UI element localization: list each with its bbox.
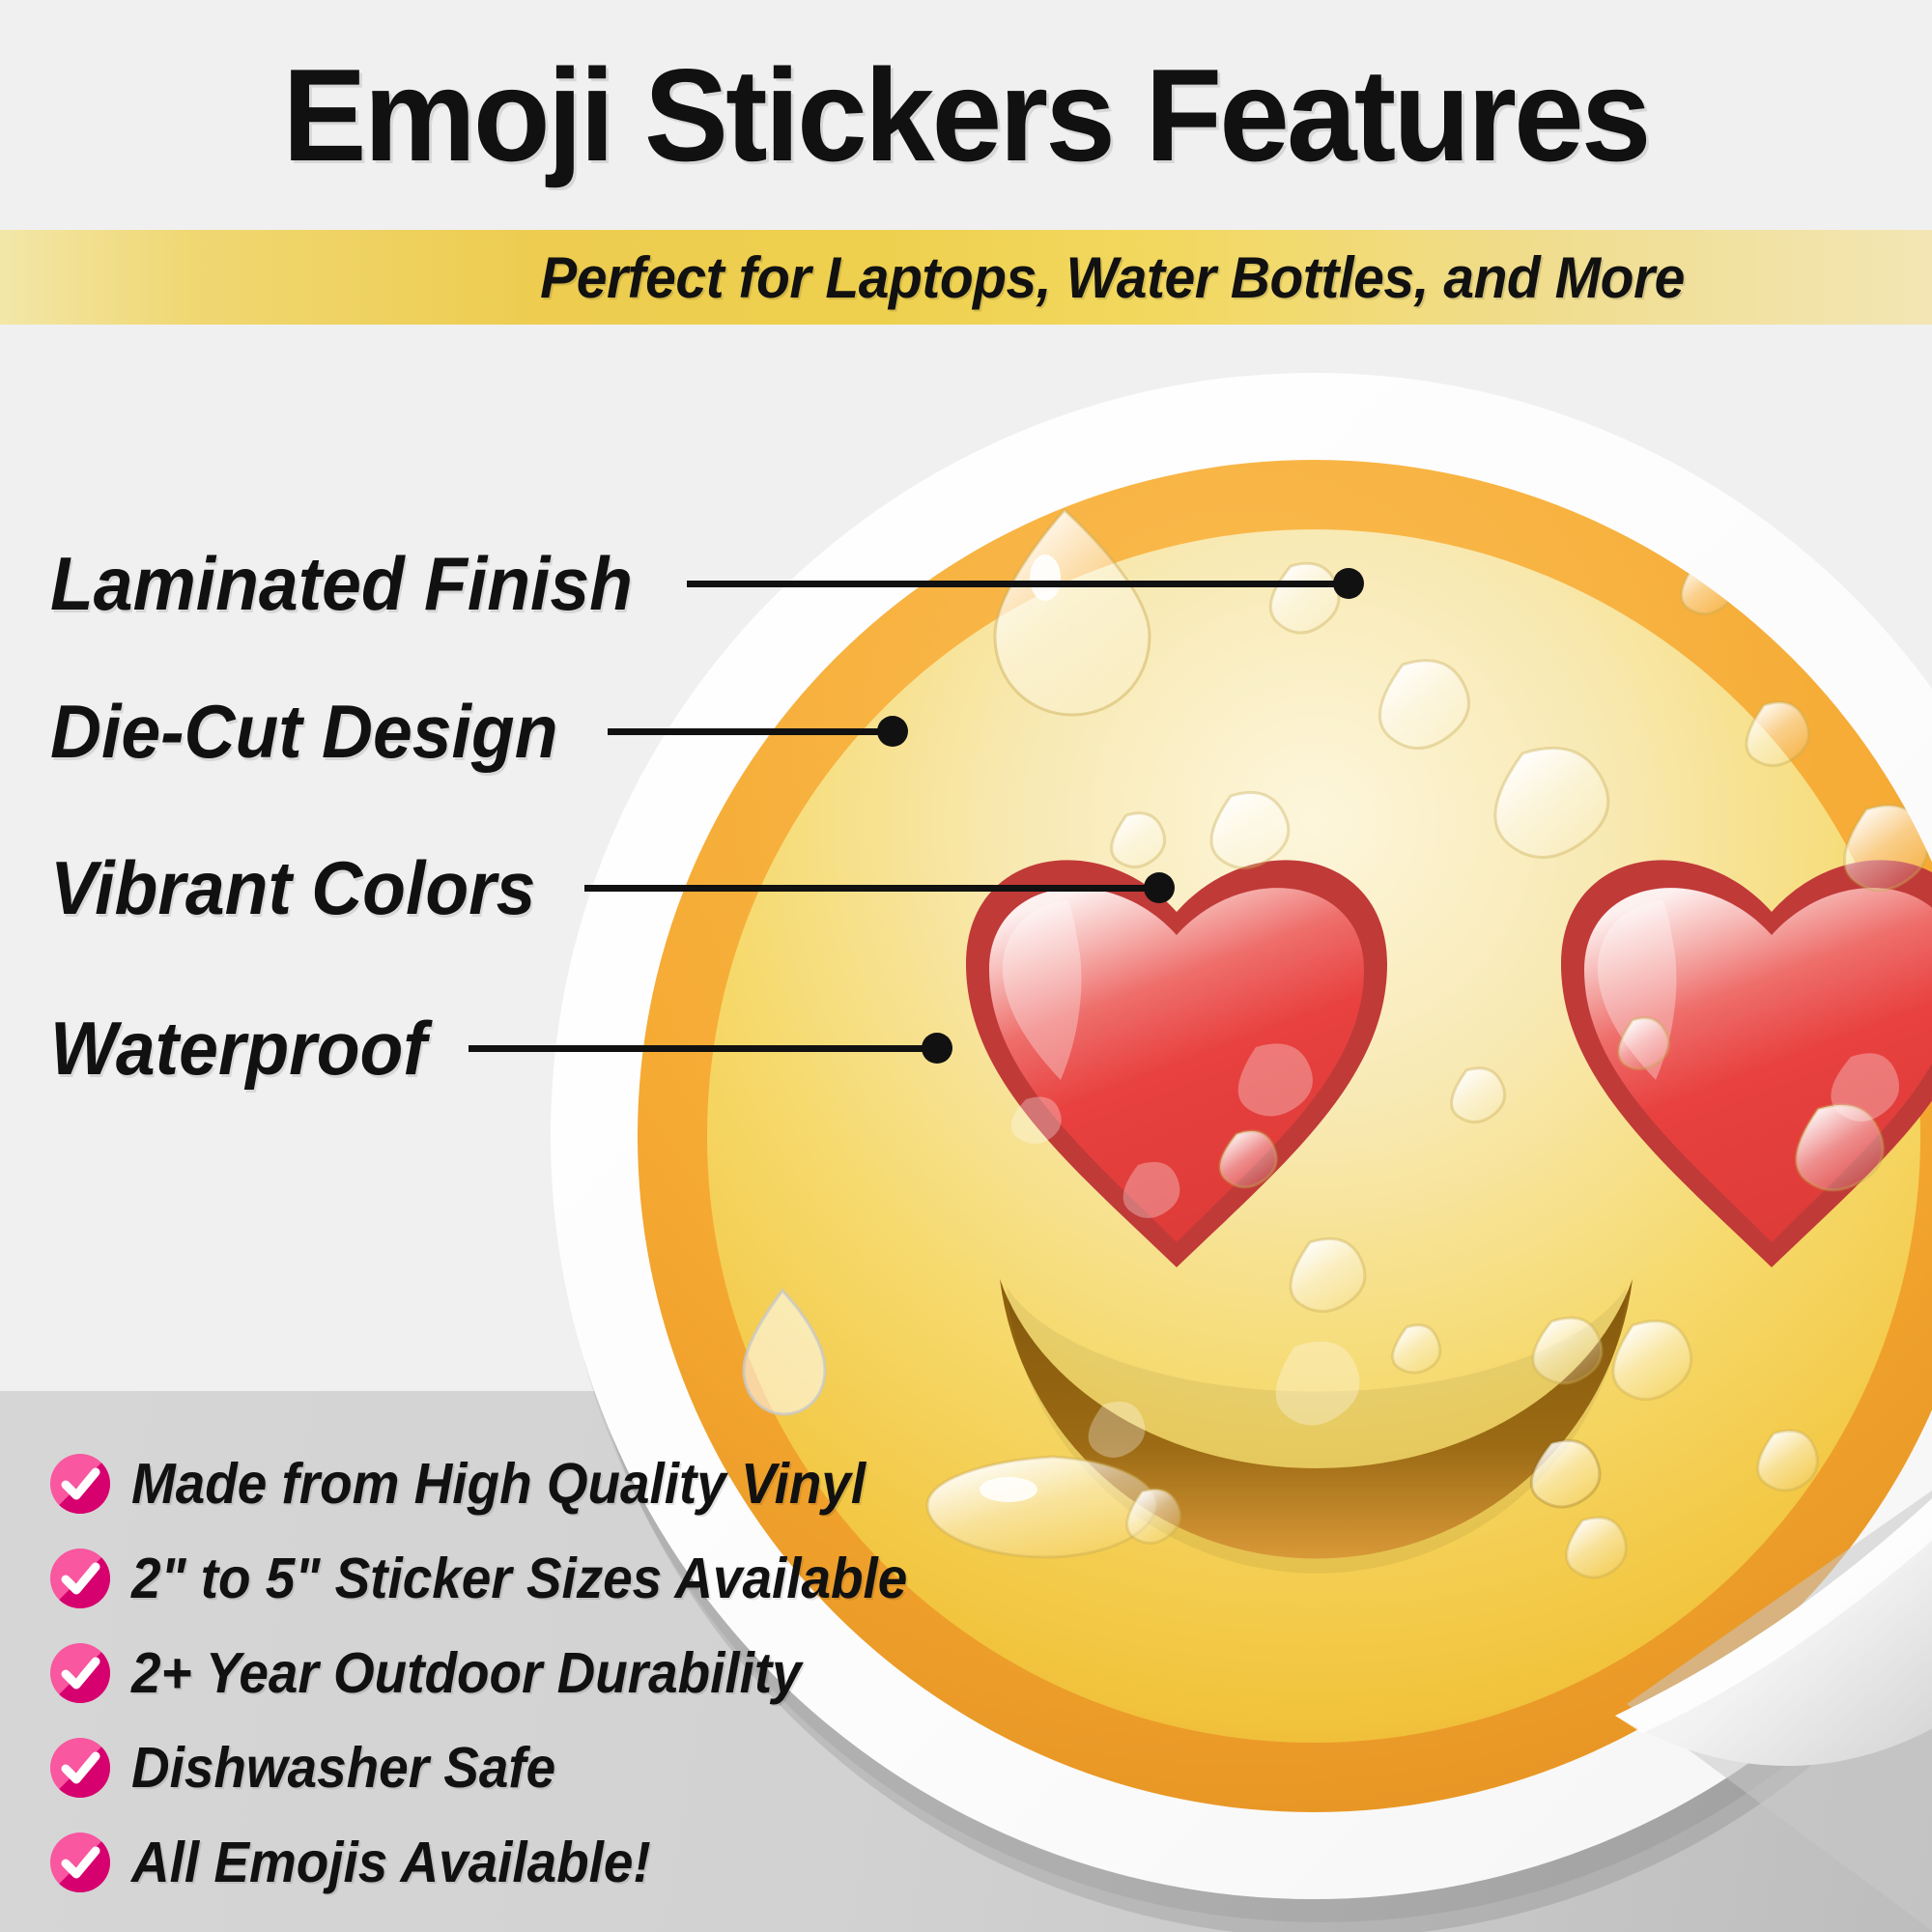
list-item-label: Made from High Quality Vinyl (131, 1456, 866, 1513)
leader-line (469, 1045, 942, 1052)
check-circle-icon (50, 1548, 110, 1608)
leader-line (687, 581, 1353, 587)
callout-label: Waterproof (50, 1010, 427, 1086)
list-item-label: 2+ Year Outdoor Durability (131, 1645, 802, 1702)
check-circle-icon (50, 1833, 110, 1892)
callout-label: Vibrant Colors (50, 850, 535, 925)
callout-waterproof[interactable]: Waterproof (50, 1010, 942, 1086)
list-item[interactable]: 2+ Year Outdoor Durability (50, 1631, 1132, 1716)
page-subtitle: Perfect for Laptops, Water Bottles, and … (541, 244, 1686, 311)
callout-label: Die-Cut Design (50, 694, 557, 769)
callout-vibrant-colors[interactable]: Vibrant Colors (50, 850, 1164, 925)
leader-line (608, 728, 897, 735)
checklist: Made from High Quality Vinyl 2" to 5" St… (50, 1441, 1132, 1915)
check-circle-icon (50, 1643, 110, 1703)
callout-laminated-finish[interactable]: Laminated Finish (50, 546, 1353, 621)
subtitle-band: Perfect for Laptops, Water Bottles, and … (0, 230, 1932, 325)
leader-line (584, 885, 1164, 892)
list-item-label: 2" to 5" Sticker Sizes Available (131, 1550, 907, 1607)
page-title: Emoji Stickers Features (283, 40, 1649, 190)
leader-dot (877, 716, 908, 747)
check-circle-icon (50, 1454, 110, 1514)
header: Emoji Stickers Features (0, 0, 1932, 230)
list-item[interactable]: 2" to 5" Sticker Sizes Available (50, 1536, 1132, 1621)
check-circle-icon (50, 1738, 110, 1798)
list-item[interactable]: Made from High Quality Vinyl (50, 1441, 1132, 1526)
list-item[interactable]: Dishwasher Safe (50, 1725, 1132, 1810)
callout-label: Laminated Finish (50, 546, 633, 621)
list-item-label: All Emojis Available! (131, 1834, 651, 1891)
leader-dot (1144, 872, 1175, 903)
list-item[interactable]: All Emojis Available! (50, 1820, 1132, 1905)
leader-dot (922, 1033, 952, 1064)
callout-die-cut-design[interactable]: Die-Cut Design (50, 694, 897, 769)
poster-canvas: Emoji Stickers Features Perfect for Lapt… (0, 0, 1932, 1932)
list-item-label: Dishwasher Safe (131, 1740, 555, 1797)
